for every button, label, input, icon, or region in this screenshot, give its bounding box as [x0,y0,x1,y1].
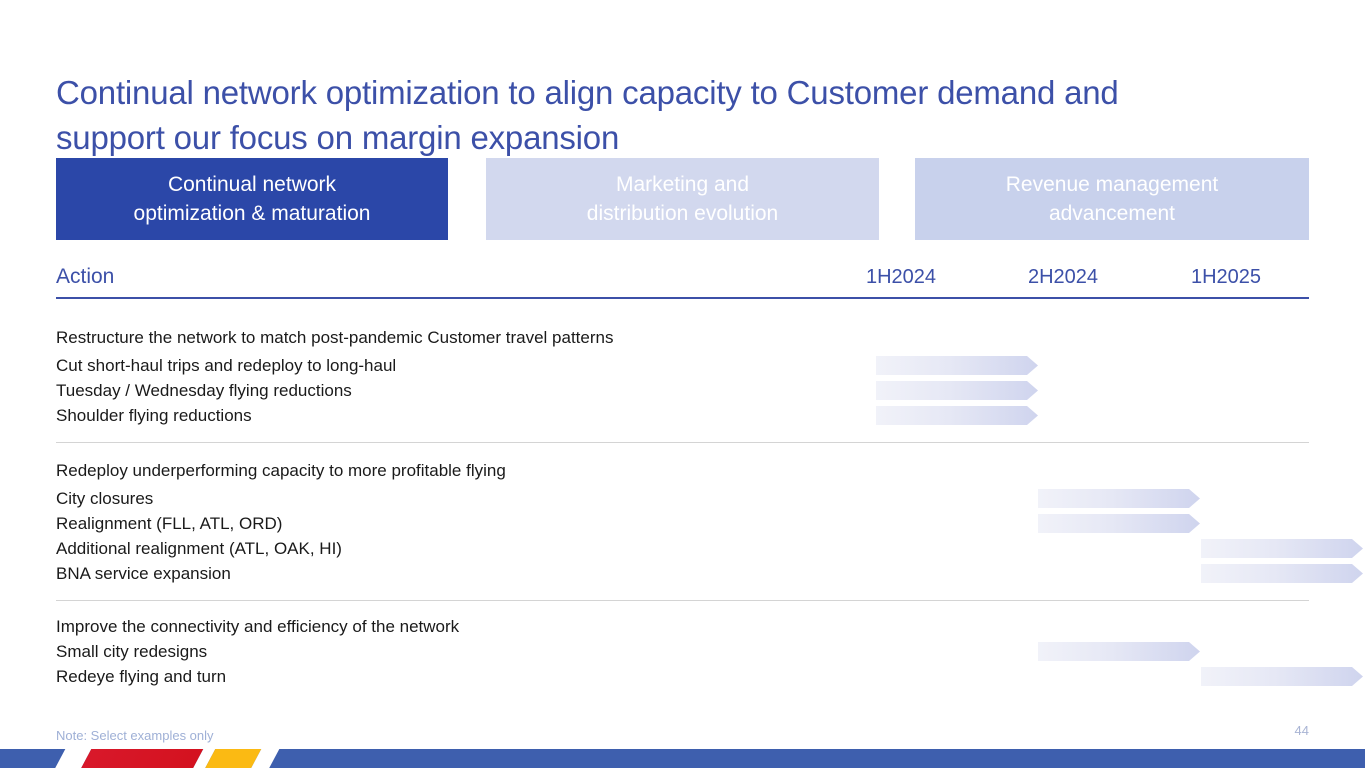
timeline-bar-1h2024 [876,356,1038,375]
row-timeline [820,486,1309,511]
section-restructure-network: Restructure the network to match post-pa… [56,310,1309,442]
footer-brand-bar [0,749,1365,768]
header-rule [56,297,1309,299]
page-number: 44 [1295,722,1309,740]
tab-label-line1: Revenue management [1006,170,1218,199]
row-label: Cut short-haul trips and redeploy to lon… [56,353,396,378]
tab-label-line2: optimization & maturation [134,199,371,228]
column-header-2h2024: 2H2024 [982,263,1144,291]
row-timeline [820,378,1309,403]
table-row[interactable]: City closures [56,486,1309,511]
tab-label-line1: Continual network [134,170,371,199]
row-timeline [820,561,1309,586]
tab-continual-network-optimization[interactable]: Continual network optimization & maturat… [56,158,448,240]
row-timeline [820,664,1309,689]
timeline-bar-2h2024 [1038,489,1200,508]
row-timeline [820,639,1309,664]
timeline-bar-2h2024 [1038,514,1200,533]
table-row[interactable]: Tuesday / Wednesday flying reductions [56,378,1309,403]
tab-marketing-distribution-evolution[interactable]: Marketing and distribution evolution [486,158,879,240]
roadmap-table: Restructure the network to match post-pa… [56,310,1309,689]
row-label: BNA service expansion [56,561,231,586]
table-row[interactable]: Small city redesigns [56,639,1309,664]
section-title: Improve the connectivity and efficiency … [56,613,1309,639]
column-header-1h2024: 1H2024 [820,263,982,291]
table-row[interactable]: BNA service expansion [56,561,1309,586]
row-timeline [820,536,1309,561]
row-label: City closures [56,486,153,511]
row-label: Additional realignment (ATL, OAK, HI) [56,536,342,561]
tab-strip: Continual network optimization & maturat… [56,158,1309,240]
row-timeline [820,511,1309,536]
tab-label-line2: distribution evolution [587,199,778,228]
row-label: Shoulder flying reductions [56,403,252,428]
section-title: Restructure the network to match post-pa… [56,322,1309,353]
tab-label-line2: advancement [1006,199,1218,228]
timeline-bar-1h2025 [1201,539,1363,558]
row-label: Redeye flying and turn [56,664,226,689]
table-row[interactable]: Cut short-haul trips and redeploy to lon… [56,353,1309,378]
page-title: Continual network optimization to align … [56,70,1206,160]
row-label: Small city redesigns [56,639,207,664]
timeline-bar-1h2024 [876,406,1038,425]
section-title: Redeploy underperforming capacity to mor… [56,455,1309,486]
row-timeline [820,403,1309,428]
section-improve-connectivity: Improve the connectivity and efficiency … [56,601,1309,689]
table-row[interactable]: Realignment (FLL, ATL, ORD) [56,511,1309,536]
row-timeline [820,353,1309,378]
column-header-action: Action [56,263,114,291]
tab-revenue-management-advancement[interactable]: Revenue management advancement [915,158,1309,240]
table-row[interactable]: Shoulder flying reductions [56,403,1309,428]
row-label: Realignment (FLL, ATL, ORD) [56,511,282,536]
table-header-row: Action 1H2024 2H2024 1H2025 [56,263,1309,298]
row-label: Tuesday / Wednesday flying reductions [56,378,352,403]
column-header-1h2025: 1H2025 [1145,263,1307,291]
tab-label-line1: Marketing and [587,170,778,199]
slide: Continual network optimization to align … [0,0,1365,768]
timeline-bar-2h2024 [1038,642,1200,661]
table-row[interactable]: Additional realignment (ATL, OAK, HI) [56,536,1309,561]
footer-accent-red [79,749,205,768]
footnote: Note: Select examples only [56,727,214,745]
section-redeploy-capacity: Redeploy underperforming capacity to mor… [56,443,1309,600]
timeline-bar-1h2024 [876,381,1038,400]
timeline-bar-1h2025 [1201,667,1363,686]
table-row[interactable]: Redeye flying and turn [56,664,1309,689]
timeline-bar-1h2025 [1201,564,1363,583]
